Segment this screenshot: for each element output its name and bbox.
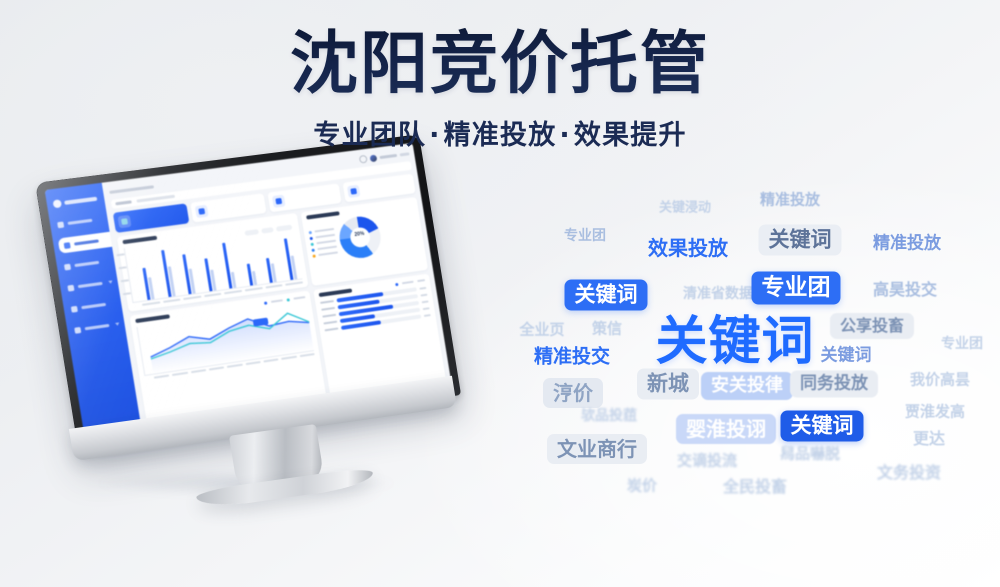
- xaxis-label: [183, 296, 201, 300]
- sidebar-item-2[interactable]: [56, 253, 115, 276]
- keyword-cloud: 关键浸动精准投放专业团效果投放关键词精准投放关键词清准省数据专业团高昊投交全业页…: [510, 186, 1000, 516]
- subtitle-part-3: 效果提升: [574, 120, 687, 151]
- bar-list-title: [318, 288, 352, 297]
- sidebar-item-5[interactable]: [66, 316, 125, 339]
- donut-wrap: 20%: [307, 209, 420, 265]
- xaxis-label: [163, 298, 181, 302]
- legend-label: [314, 228, 334, 233]
- xaxis-label: [245, 361, 260, 365]
- folder-icon: [67, 284, 74, 291]
- xaxis-label: [224, 290, 242, 294]
- keyword-tag: 关键词: [821, 348, 872, 365]
- gear-icon: [74, 326, 81, 333]
- bar-chart-title: [122, 236, 157, 245]
- page-title: 沈阳竞价托管: [0, 28, 1000, 101]
- legend-label: [316, 240, 336, 245]
- kpi-body: [287, 188, 335, 194]
- keyword-tag: 关键词: [565, 280, 648, 311]
- keyword-tag: 关键词: [655, 316, 814, 368]
- monitor-mockup: 20%: [18, 122, 497, 508]
- user-name: [379, 153, 397, 158]
- keyword-tag: 全业页: [519, 323, 564, 338]
- keyword-tag: 我价高昙: [910, 373, 970, 388]
- xaxis-label: [142, 301, 160, 305]
- legend-dot-icon: [310, 242, 313, 245]
- keyword-tag: 欤品投莥: [581, 409, 637, 423]
- bar-list-value: [423, 307, 430, 310]
- xaxis-label: [191, 369, 207, 373]
- xaxis-label: [281, 356, 296, 360]
- keyword-tag: 效果投放: [648, 238, 728, 258]
- sidebar-item-label: [78, 282, 103, 288]
- bar-primary: [222, 242, 232, 288]
- sidebar-item-label: [74, 261, 99, 267]
- users-icon: [64, 263, 71, 270]
- dashboard-logo: [46, 190, 106, 212]
- sidebar-item-label: [68, 219, 93, 225]
- bar-list-value: [422, 300, 429, 303]
- donut-chart-title: [306, 211, 340, 219]
- bar-list-label: [324, 327, 338, 331]
- filter-label: [115, 200, 132, 205]
- keyword-tag: 炭价: [627, 479, 657, 494]
- keyword-tag: 高昊投交: [873, 282, 937, 298]
- bar-list-value: [419, 286, 426, 289]
- keyword-tag: 文业商行: [547, 434, 647, 464]
- keyword-tag: 交谪投流: [677, 454, 737, 469]
- subtitle-separator-2: ·: [556, 120, 573, 151]
- sidebar-item-label: [81, 303, 106, 309]
- avatar[interactable]: [369, 154, 377, 162]
- legend-dot-icon: [309, 236, 312, 239]
- headline-block: 沈阳竞价托管 专业团队·精准投放·效果提升: [0, 28, 1000, 152]
- logo-mark-icon: [52, 199, 61, 208]
- sidebar-item-1[interactable]: [58, 232, 112, 254]
- xaxis-label: [299, 353, 314, 357]
- legend-dot-icon: [312, 254, 315, 257]
- xaxis-label: [245, 287, 263, 291]
- keyword-tag: 关键词: [759, 225, 842, 256]
- xaxis-label: [204, 293, 222, 297]
- kpi-body: [362, 178, 409, 184]
- donut-chart: 20%: [336, 214, 383, 261]
- keyword-tag: 清准省数据: [683, 287, 753, 301]
- bar-chart-ytick: [121, 279, 129, 282]
- subtitle-separator-1: ·: [426, 120, 443, 151]
- keyword-tag: 涥价: [543, 378, 603, 408]
- sidebar-item-label: [74, 239, 99, 245]
- bar-list-label: [323, 320, 337, 324]
- keyword-tag: 关键词: [781, 411, 864, 442]
- bar-list-label: [322, 313, 336, 317]
- kpi-icon: [117, 215, 131, 229]
- keyword-tag: 文务投资: [877, 465, 941, 481]
- bar-list-value: [424, 314, 431, 317]
- xaxis-label: [265, 284, 283, 288]
- keyword-tag: 同务投放: [790, 371, 878, 398]
- keyword-tag: 精准投放: [873, 236, 941, 253]
- keyword-tag: 更达: [913, 431, 945, 447]
- sidebar-item-3[interactable]: [59, 274, 118, 297]
- line-chart-title: [135, 314, 170, 323]
- keyword-tag: 精准投交: [534, 348, 610, 367]
- chart-icon: [64, 242, 71, 249]
- keyword-tag: 精准投放: [760, 193, 820, 208]
- legend-dot-icon: [311, 248, 314, 251]
- keyword-tag: 全民投畜: [723, 479, 787, 495]
- xaxis-label: [285, 281, 303, 285]
- donut-legend: [308, 227, 338, 257]
- xaxis-label: [172, 372, 188, 376]
- keyword-tag: 关键浸动: [659, 202, 711, 215]
- bar-list-value: [420, 293, 427, 296]
- legend-label: [318, 251, 338, 256]
- subtitle-part-1: 专业团队: [313, 120, 426, 151]
- xaxis-label: [209, 366, 225, 370]
- sidebar-item-0[interactable]: [49, 211, 109, 234]
- chevron-down-icon: [115, 322, 120, 326]
- keyword-tag: 专业团: [564, 229, 606, 243]
- kpi-icon: [347, 185, 360, 198]
- kpi-icon: [271, 195, 285, 208]
- bar-chart-ytick: [119, 266, 127, 269]
- list-icon: [71, 305, 78, 312]
- filter-value: [136, 195, 175, 203]
- keyword-tag: 策信: [592, 322, 622, 337]
- keyword-tag: 婴淮投诩: [676, 414, 776, 444]
- donut-legend-row[interactable]: [312, 251, 338, 257]
- legend-label: [315, 234, 335, 239]
- sidebar-item-4[interactable]: [63, 295, 122, 318]
- legend-dot-icon: [308, 230, 311, 233]
- donut-center-value: 20%: [339, 229, 380, 240]
- bar-chart-ytick: [116, 253, 124, 256]
- subtitle-part-2: 精准投放: [444, 120, 557, 151]
- donut-chart-panel: 20%: [300, 197, 428, 286]
- bar-list-legend[interactable]: [395, 279, 425, 286]
- keyword-tag: 专业团: [941, 337, 983, 351]
- sidebar-item-label: [85, 324, 110, 330]
- xaxis-label: [154, 374, 170, 378]
- dashboard-icon: [57, 221, 64, 228]
- breadcrumb: [109, 185, 154, 194]
- logo-text: [64, 196, 97, 204]
- keyword-tag: 专业团: [752, 272, 841, 305]
- poster-canvas: 沈阳竞价托管 专业团队·精准投放·效果提升: [0, 0, 1000, 587]
- page-subtitle: 专业团队·精准投放·效果提升: [0, 113, 1000, 152]
- kpi-icon: [195, 205, 209, 218]
- kpi-body: [211, 198, 260, 204]
- legend-label: [317, 246, 337, 251]
- keyword-tag: 贾淮发高: [905, 405, 965, 420]
- bar-chart-ytick: [123, 292, 131, 295]
- bar-list-label: [321, 306, 335, 310]
- bar-list-label: [320, 300, 334, 304]
- chevron-down-icon: [108, 280, 113, 284]
- keyword-tag: 新城: [637, 369, 699, 400]
- keyword-tag: 安关投律: [701, 372, 793, 400]
- keyword-tag: 公享投畜: [830, 313, 914, 339]
- keyword-tag: 舄品嚇脱: [780, 447, 840, 462]
- bell-icon[interactable]: [359, 155, 368, 164]
- kpi-body: [134, 208, 183, 214]
- xaxis-label: [263, 358, 278, 362]
- xaxis-label: [227, 364, 242, 368]
